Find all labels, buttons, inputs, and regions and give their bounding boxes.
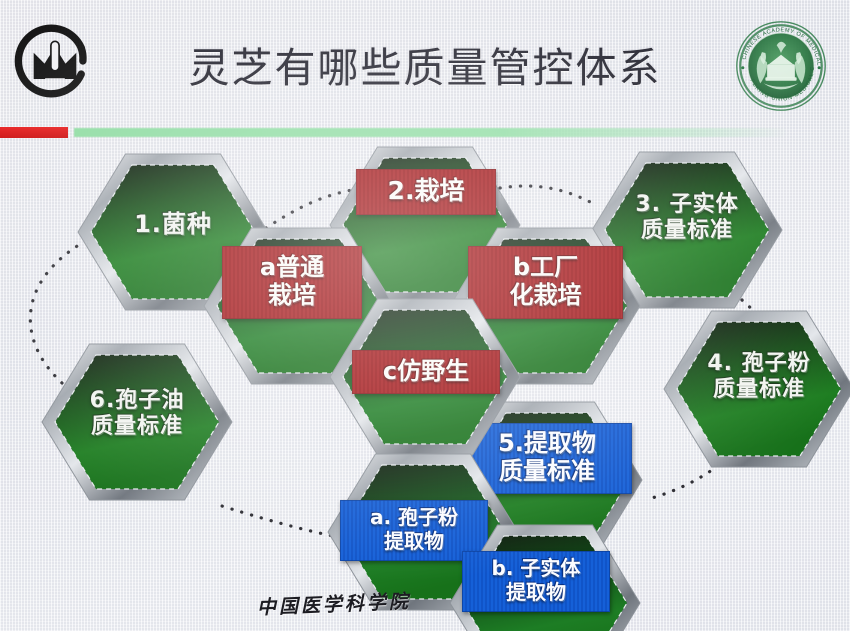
watermark-line-1: 中国医学科学院 — [257, 586, 498, 621]
hex-node-4[interactable]: 4. 孢子粉 质量标准 — [664, 307, 850, 497]
institution-watermark: 中国医学科学院 北京协和医学院 药 — [255, 561, 500, 631]
slide-canvas: 灵芝有哪些质量管控体系 — [0, 0, 850, 631]
honeycomb-diagram: 1.菌种 — [0, 0, 850, 631]
